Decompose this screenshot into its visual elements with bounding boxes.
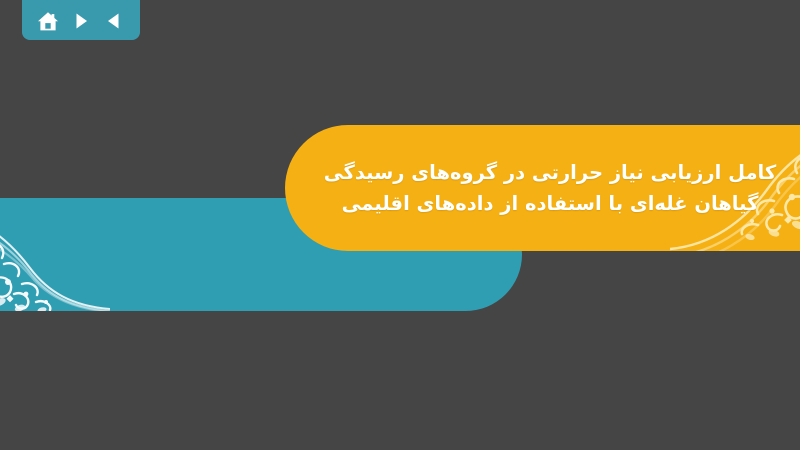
slide-canvas: کامل ارزیابی نیاز حرارتی در گروه‌های رسی…	[0, 0, 800, 450]
back-button[interactable]	[101, 9, 127, 33]
forward-triangle-icon	[71, 11, 91, 31]
orange-arabesque-ornament	[670, 125, 800, 251]
home-icon	[37, 11, 59, 32]
forward-button[interactable]	[68, 9, 94, 33]
back-triangle-icon	[104, 11, 124, 31]
navigation-bar	[22, 0, 140, 40]
orange-banner	[285, 125, 800, 251]
teal-arabesque-ornament	[0, 198, 110, 311]
home-button[interactable]	[35, 9, 61, 33]
